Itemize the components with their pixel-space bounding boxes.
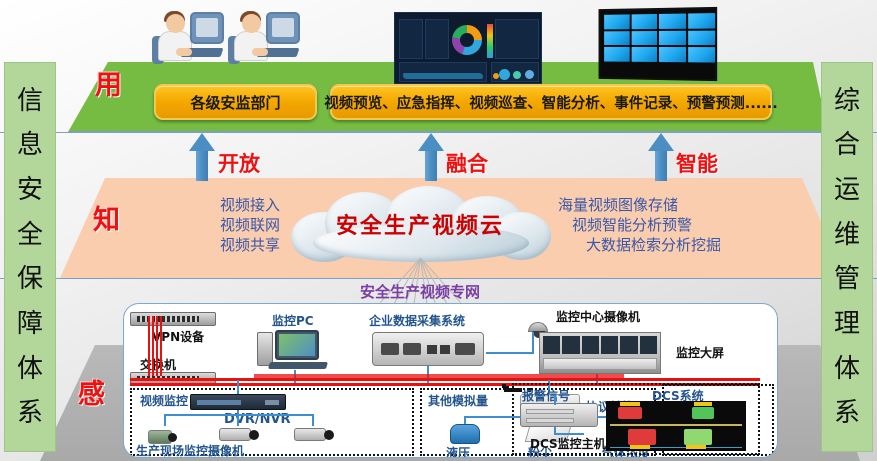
screen-cell xyxy=(601,336,618,354)
screen-cell xyxy=(543,336,560,354)
red-bus-line xyxy=(130,378,760,381)
cloud-left-item-0: 视频接入 xyxy=(140,196,280,216)
wall-cell xyxy=(688,30,715,45)
dvr-device-icon xyxy=(190,394,286,410)
server-port xyxy=(455,343,475,355)
monitor-pc-label: 监控PC xyxy=(272,312,314,329)
sidebar-right-char-7: 系 xyxy=(834,400,860,426)
sidebar-left-char-2: 安 xyxy=(17,177,43,203)
big-screen-label: 监控大屏 xyxy=(676,344,724,361)
heat-scale-shape xyxy=(487,24,493,58)
screen-cell xyxy=(640,336,657,354)
screen-cell xyxy=(620,336,637,354)
dcs-host-label: DCS监控主机 xyxy=(530,435,606,452)
sensor-label-hydraulic: 液压 xyxy=(446,444,470,458)
site-camera-caption: 生产现场监控摄像机 xyxy=(136,442,244,458)
data-collection-server-icon xyxy=(372,332,484,366)
hand-shape xyxy=(252,48,268,56)
pc-tower-icon xyxy=(257,332,273,366)
dash-panel xyxy=(495,19,539,59)
switch-label: 交换机 xyxy=(140,356,176,373)
screen-shape xyxy=(196,18,218,37)
person-figure xyxy=(228,6,302,68)
link-line xyxy=(164,414,314,416)
control-room-image xyxy=(539,332,661,374)
sidebar-left-char-5: 障 xyxy=(17,311,43,337)
dcs-tag xyxy=(686,445,706,449)
dvr-panel xyxy=(197,400,241,405)
pc-keyboard-icon xyxy=(268,362,328,369)
red-riser xyxy=(160,316,162,376)
vpn-device-icon xyxy=(130,312,216,326)
wall-cell xyxy=(604,47,629,62)
data-collection-label: 企业数据采集系统 xyxy=(369,312,465,329)
server-port xyxy=(381,343,399,355)
sidebar-left-char-3: 全 xyxy=(17,222,43,248)
link-line xyxy=(237,410,239,426)
dvr-panel xyxy=(265,400,279,405)
dcs-hmi-image xyxy=(606,401,746,451)
dash-panel xyxy=(425,19,449,59)
architecture-diagram: 信 息 安 全 保 障 体 系 综 合 运 维 管 理 体 系 用 知 感 xyxy=(0,0,877,461)
sidebar-right-char-2: 运 xyxy=(834,177,860,203)
wall-cell xyxy=(604,14,629,29)
bubble-shape xyxy=(493,73,499,79)
sidebar-left-char-7: 系 xyxy=(17,400,43,426)
sidebar-operations-management: 综 合 运 维 管 理 体 系 xyxy=(821,62,873,452)
users-at-computers-illustration xyxy=(152,6,308,68)
wall-cell xyxy=(631,14,657,29)
dcs-tag xyxy=(620,402,640,406)
analog-signals-title: 其他模拟量 xyxy=(428,392,488,409)
head-shape xyxy=(242,14,261,33)
safety-departments-box[interactable]: 各级安监部门 xyxy=(154,84,317,120)
dome-camera-icon xyxy=(528,322,548,332)
dcs-bus xyxy=(610,424,742,426)
cloud-left-item-2: 视频共享 xyxy=(140,236,280,256)
control-room-screens xyxy=(543,336,657,354)
arrow-intelligent-icon xyxy=(648,133,674,181)
layer-label-know: 知 xyxy=(93,198,120,237)
arrow-shaft xyxy=(425,149,437,181)
person-figure xyxy=(152,6,226,68)
cloud-left-item-1: 视频联网 xyxy=(140,216,280,236)
sidebar-right-char-5: 理 xyxy=(834,311,860,337)
link-line xyxy=(312,414,314,426)
sidebar-left-char-6: 体 xyxy=(17,356,43,382)
cloud-title: 安全生产视频云 xyxy=(285,208,555,240)
red-bus-line xyxy=(254,374,624,378)
camera-lens xyxy=(324,430,334,440)
pc-screen xyxy=(279,334,315,356)
arrow-open-icon xyxy=(189,133,215,181)
hand-shape xyxy=(176,48,192,56)
screen-cell xyxy=(562,336,579,354)
cloud-right-item-1: 视频智能分析预警 xyxy=(558,216,768,236)
wall-cell xyxy=(659,47,686,62)
sidebar-right-char-3: 维 xyxy=(834,222,860,248)
cloud-capabilities-left: 视频接入 视频联网 视频共享 xyxy=(140,196,280,255)
control-room-desk xyxy=(543,358,657,370)
dash-area-fill xyxy=(403,73,483,79)
camera-lens xyxy=(168,433,177,442)
layer-label-use: 用 xyxy=(95,63,122,102)
alarm-dcs-region: 报警信号 DCS监控主机 DCS系统 xyxy=(510,383,778,459)
analytics-dashboard-image xyxy=(394,12,542,84)
camera-body xyxy=(294,428,326,441)
arrow-label-intelligent: 智能 xyxy=(676,148,718,178)
donut-chart-shape xyxy=(452,25,482,55)
link-line xyxy=(486,352,534,354)
sidebar-right-char-0: 综 xyxy=(834,88,860,114)
arrow-head xyxy=(648,133,674,151)
dcs-tag xyxy=(630,445,650,449)
red-riser xyxy=(156,316,158,376)
video-monitoring-title: 视频监控 xyxy=(140,392,188,409)
dash-panel xyxy=(399,19,423,59)
sidebar-information-security: 信 息 安 全 保 障 体 系 xyxy=(4,62,56,452)
wall-cell xyxy=(659,30,686,45)
link-line xyxy=(237,380,239,394)
link-line xyxy=(532,332,534,354)
red-riser xyxy=(148,316,150,376)
server-port xyxy=(440,345,450,354)
sidebar-right-char-1: 合 xyxy=(834,132,860,158)
arrow-fusion-icon xyxy=(418,133,444,181)
application-functions-box[interactable]: 视频预览、应急指挥、视频巡查、智能分析、事件记录、预警预测...... xyxy=(330,84,772,120)
sidebar-left-char-4: 保 xyxy=(17,266,43,292)
screen-cell xyxy=(582,336,599,354)
bubble-shape xyxy=(525,70,534,79)
red-riser xyxy=(152,316,154,376)
wall-cell xyxy=(659,14,686,29)
cloud-capabilities-right: 海量视频图像存储 视频智能分析预警 大数据检索分析挖掘 xyxy=(558,196,768,255)
dcs-tag xyxy=(694,402,712,406)
sidebar-left-char-1: 息 xyxy=(17,132,43,158)
wall-cell xyxy=(688,13,715,28)
camera-lens xyxy=(249,430,259,440)
cloud-right-item-2: 大数据检索分析挖掘 xyxy=(558,236,768,256)
private-network-label: 安全生产视频专网 xyxy=(300,281,540,302)
sidebar-right-char-6: 体 xyxy=(834,356,860,382)
dash-area-chart xyxy=(399,62,487,82)
host-panel xyxy=(526,409,574,414)
arrow-label-open: 开放 xyxy=(218,148,260,178)
rack-ports xyxy=(137,316,199,322)
center-camera-label: 监控中心摄像机 xyxy=(556,308,640,325)
alarm-signal-label: 报警信号 xyxy=(522,387,570,404)
sidebar-left-char-0: 信 xyxy=(17,88,43,114)
bubble-shape xyxy=(513,71,521,79)
wall-cell xyxy=(604,31,629,45)
monitor-icon xyxy=(266,12,300,44)
server-port xyxy=(403,343,421,355)
camera-body xyxy=(219,428,251,441)
server-port xyxy=(427,345,437,354)
pc-monitor-icon xyxy=(275,330,319,360)
wall-cell xyxy=(631,31,657,46)
video-wall-display xyxy=(599,7,718,81)
arrow-head xyxy=(418,133,444,151)
head-shape xyxy=(166,14,185,33)
video-wall-grid xyxy=(604,13,715,62)
sidebar-right-char-4: 管 xyxy=(834,266,860,292)
monitor-icon xyxy=(190,12,224,44)
wall-cell xyxy=(688,47,715,62)
dcs-node xyxy=(684,429,712,445)
dcs-host-icon xyxy=(520,403,598,427)
dcs-node xyxy=(628,429,656,445)
dcs-node xyxy=(618,407,642,419)
arrow-shaft xyxy=(655,149,667,181)
box-camera-icon xyxy=(294,426,338,444)
layer-label-sense: 感 xyxy=(78,372,105,411)
wall-cell xyxy=(631,47,657,62)
hydraulic-sensor-icon xyxy=(450,424,480,444)
arrow-head xyxy=(189,133,215,151)
link-line xyxy=(554,395,556,405)
bubble-shape xyxy=(499,69,510,80)
screen-shape xyxy=(272,18,294,37)
cloud-right-item-0: 海量视频图像存储 xyxy=(558,196,768,216)
host-panel xyxy=(526,418,574,423)
dcs-node xyxy=(692,407,714,419)
arrow-label-fusion: 融合 xyxy=(446,148,488,178)
arrow-shaft xyxy=(196,149,208,181)
